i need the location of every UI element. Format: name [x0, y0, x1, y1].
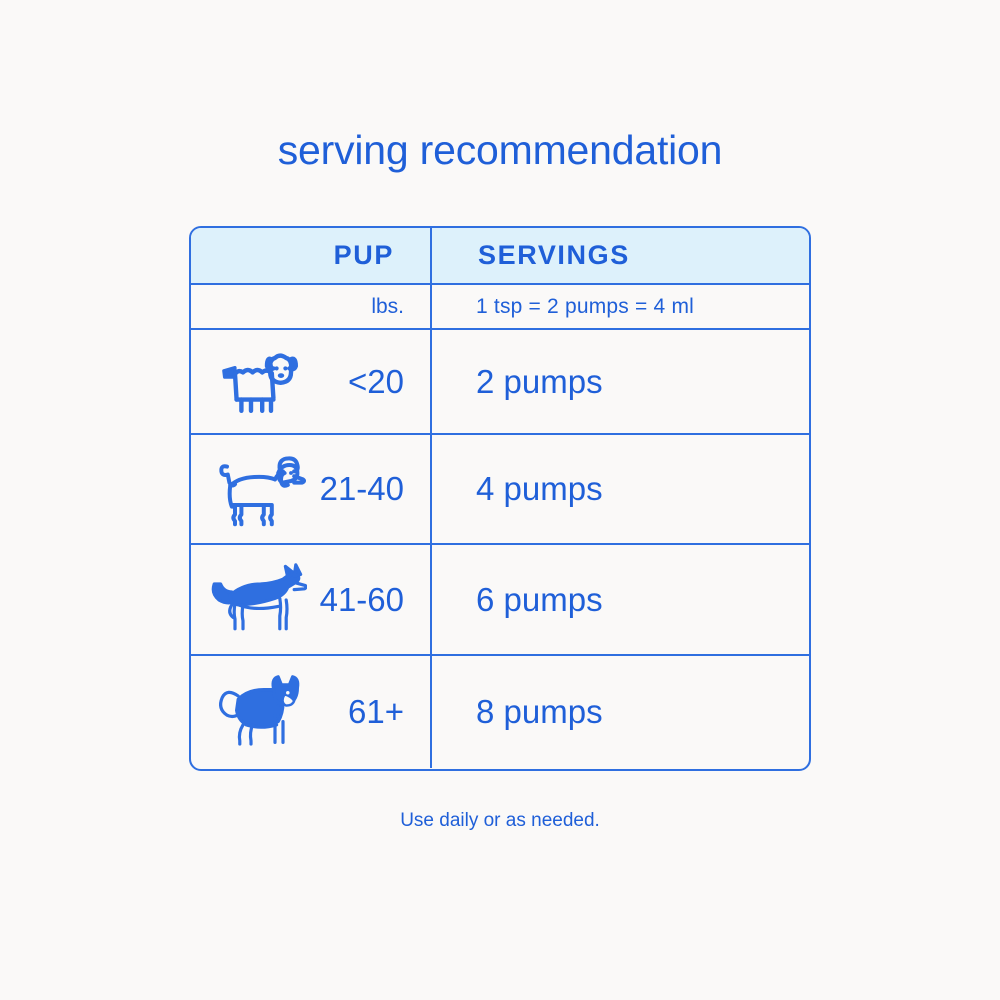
row-cell-servings: 4 pumps [432, 435, 809, 543]
header-label-pup: PUP [191, 240, 430, 271]
row-servings: 4 pumps [432, 470, 603, 508]
subheader-cell-pup: lbs. [191, 285, 432, 328]
row-servings: 8 pumps [432, 693, 603, 731]
row-cell-servings: 2 pumps [432, 330, 809, 433]
row-servings: 6 pumps [432, 581, 603, 619]
table-row: 61+ 8 pumps [191, 656, 809, 768]
table-row: 21-40 4 pumps [191, 435, 809, 545]
subheader-label-unit: lbs. [191, 295, 430, 319]
page-title: serving recommendation [0, 126, 1000, 175]
subheader-cell-servings: 1 tsp = 2 pumps = 4 ml [432, 285, 809, 328]
row-cell-pup: 21-40 [191, 435, 432, 543]
german-shepherd-icon [211, 558, 307, 642]
serving-recommendation-card: serving recommendation PUP SERVINGS lbs.… [0, 0, 1000, 1000]
table-header-row: PUP SERVINGS [191, 228, 809, 285]
table-subheader-row: lbs. 1 tsp = 2 pumps = 4 ml [191, 285, 809, 330]
small-dog-icon [211, 340, 307, 424]
poodle-icon [211, 447, 307, 531]
header-cell-servings: SERVINGS [432, 228, 809, 283]
row-servings: 2 pumps [432, 363, 603, 401]
subheader-label-conversion: 1 tsp = 2 pumps = 4 ml [432, 295, 809, 319]
husky-icon [211, 670, 307, 754]
footer-note: Use daily or as needed. [0, 810, 1000, 832]
table-row: <20 2 pumps [191, 330, 809, 435]
header-label-servings: SERVINGS [432, 240, 809, 271]
serving-table: PUP SERVINGS lbs. 1 tsp = 2 pumps = 4 ml [189, 226, 811, 771]
row-cell-pup: 41-60 [191, 545, 432, 654]
table-row: 41-60 6 pumps [191, 545, 809, 656]
row-cell-pup: 61+ [191, 656, 432, 768]
row-cell-servings: 6 pumps [432, 545, 809, 654]
row-cell-pup: <20 [191, 330, 432, 433]
header-cell-pup: PUP [191, 228, 432, 283]
row-cell-servings: 8 pumps [432, 656, 809, 768]
